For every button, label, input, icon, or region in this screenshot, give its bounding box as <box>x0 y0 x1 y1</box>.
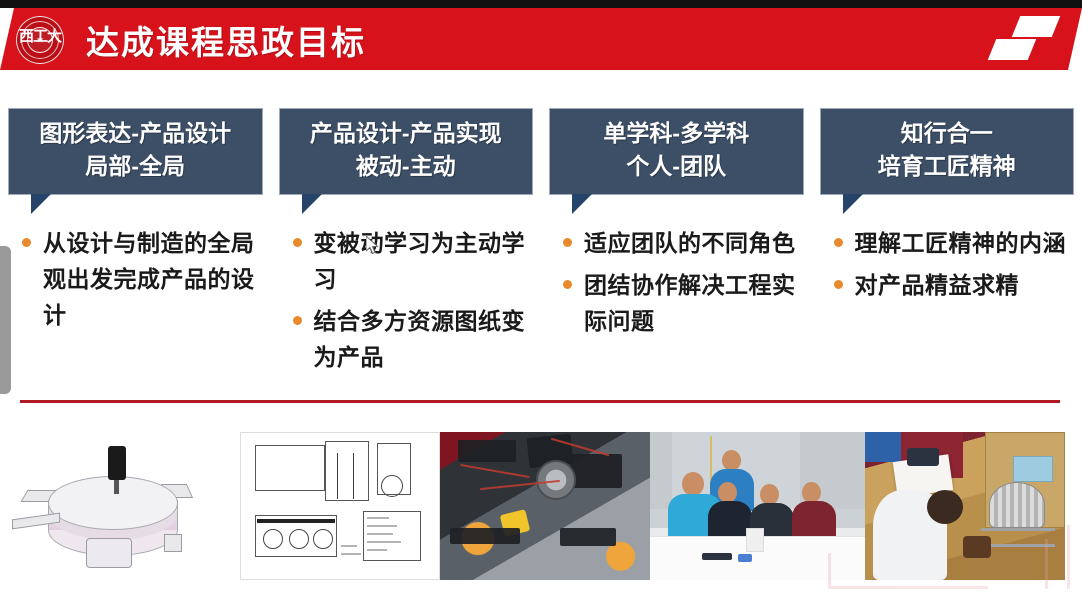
drawing-title-block <box>363 511 421 561</box>
workshop-student-head <box>927 490 963 524</box>
column-1-bullets: 从设计与制造的全局观出发完成产品的设计 <box>8 225 263 333</box>
workshop-machine-frame-b <box>981 544 1055 547</box>
student-head <box>718 482 737 503</box>
list-item: 结合多方资源图纸变为产品 <box>293 303 534 375</box>
bullet-text: 适应团队的不同角色 <box>584 225 796 261</box>
workshop-display <box>1013 456 1053 482</box>
column-header-3: 单学科-多学科 个人-团队 <box>549 108 804 195</box>
bullet-dot-icon <box>563 280 572 289</box>
student-head <box>760 484 779 505</box>
bullet-text: 变被动学习为主动学习 <box>314 225 534 297</box>
objective-column-1: 图形表达-产品设计 局部-全局 从设计与制造的全局观出发完成产品的设计 <box>0 108 271 378</box>
drawing-circle <box>381 475 403 497</box>
column-2-bullets: 变被动学习为主动学习 结合多方资源图纸变为产品 <box>279 225 534 375</box>
cad-side-foot <box>164 534 182 552</box>
column-header-3-tail <box>572 194 592 214</box>
drawing-centerline <box>337 453 338 499</box>
column-header-1-line1: 图形表达-产品设计 <box>13 117 258 150</box>
drawing-title-text <box>367 541 401 543</box>
column-header-4-line1: 知行合一 <box>825 117 1070 150</box>
drawing-title-text <box>367 533 393 535</box>
university-seal-icon: 西工大 ★ <box>16 16 64 64</box>
slide-canvas: 西工大 ★ 达成课程思政目标 图形表达-产品设计 局部-全局 从设计与制造的全局… <box>0 0 1082 595</box>
column-header-1: 图形表达-产品设计 局部-全局 <box>8 108 263 195</box>
student-head <box>802 482 821 503</box>
cad-shaft <box>114 478 119 494</box>
objective-column-2: 产品设计-产品实现 被动-主动 变被动学习为主动学习 结合多方资源图纸变为产品 <box>271 108 542 378</box>
list-item: 适应团队的不同角色 <box>563 225 804 261</box>
column-header-4: 知行合一 培育工匠精神 <box>820 108 1075 195</box>
drawing-bore-3 <box>313 529 333 549</box>
drawing-centerline-2 <box>353 453 354 499</box>
bullet-dot-icon <box>293 316 302 325</box>
objective-columns: 图形表达-产品设计 局部-全局 从设计与制造的全局观出发完成产品的设计 产品设计… <box>0 108 1082 378</box>
column-header-2-tail <box>302 194 322 214</box>
list-item: 对产品精益求精 <box>834 267 1075 303</box>
banner-decoration <box>972 14 1064 64</box>
column-header-2-line1: 产品设计-产品实现 <box>284 117 529 150</box>
page-title: 达成课程思政目标 <box>86 22 366 64</box>
column-header-4-line2: 培育工匠精神 <box>825 150 1070 183</box>
electronics-rail-2 <box>560 528 616 546</box>
student-head <box>682 472 704 496</box>
drawing-note-text <box>341 545 357 547</box>
electronics-module-a <box>458 440 516 462</box>
header-banner: 西工大 ★ 达成课程思政目标 <box>0 8 1082 70</box>
bullet-dot-icon <box>22 238 31 247</box>
table-object-cup <box>746 528 764 552</box>
drawing-note-text <box>341 553 361 555</box>
list-item: 变被动学习为主动学习 <box>293 225 534 297</box>
bullet-dot-icon <box>834 280 843 289</box>
column-header-2: 产品设计-产品实现 被动-主动 <box>279 108 534 195</box>
photo-strip <box>0 432 1082 580</box>
drawing-title-text <box>367 549 387 551</box>
column-header-4-tail <box>843 194 863 214</box>
column-header-1-line2: 局部-全局 <box>13 150 258 183</box>
engineering-drawing-image <box>240 432 440 580</box>
bullet-text: 团结协作解决工程实际问题 <box>584 267 804 339</box>
column-header-3-line2: 个人-团队 <box>554 150 799 183</box>
list-item: 从设计与制造的全局观出发完成产品的设计 <box>22 225 263 333</box>
student-head <box>722 450 741 471</box>
bullet-text: 对产品精益求精 <box>855 267 1020 303</box>
electronics-module-c <box>570 454 622 488</box>
list-item: 团结协作解决工程实际问题 <box>563 267 804 339</box>
workshop-machine-frame-a <box>981 528 1055 531</box>
objective-column-3: 单学科-多学科 个人-团队 适应团队的不同角色 团结协作解决工程实际问题 <box>541 108 812 378</box>
column-header-3-line1: 单学科-多学科 <box>554 117 799 150</box>
electronics-rail <box>450 528 520 544</box>
cad-motor <box>108 446 126 480</box>
drawing-bore-2 <box>289 529 309 549</box>
column-3-bullets: 适应团队的不同角色 团结协作解决工程实际问题 <box>549 225 804 339</box>
objective-column-4: 知行合一 培育工匠精神 理解工匠精神的内涵 对产品精益求精 <box>812 108 1082 378</box>
top-black-strip <box>0 0 1082 8</box>
deco-parallelogram-top <box>1012 16 1060 37</box>
table-object-box <box>738 554 752 562</box>
column-header-1-tail <box>31 194 51 214</box>
cad-base-foot <box>86 538 132 568</box>
bullet-text: 理解工匠精神的内涵 <box>855 225 1067 261</box>
drawing-view-section <box>325 441 369 501</box>
workshop-machine <box>989 482 1045 528</box>
bullet-text: 结合多方资源图纸变为产品 <box>314 303 534 375</box>
workshop-held-device <box>907 448 939 466</box>
drawing-title-text <box>367 525 397 527</box>
deco-parallelogram-bottom <box>988 39 1036 60</box>
cad-render-image <box>0 432 240 580</box>
electronics-assembly-image <box>440 432 650 580</box>
drawing-bore-1 <box>263 529 283 549</box>
cad-top-disc <box>48 476 178 530</box>
bullet-dot-icon <box>563 238 572 247</box>
bullet-dot-icon <box>834 238 843 247</box>
bullet-text: 从设计与制造的全局观出发完成产品的设计 <box>43 225 263 333</box>
watermark-bar <box>828 586 988 589</box>
drawing-view-front <box>255 445 325 491</box>
student-team-image <box>650 432 865 580</box>
bullet-dot-icon <box>293 238 302 247</box>
workshop-parts <box>963 536 991 558</box>
table-object-device <box>702 553 732 560</box>
red-divider <box>20 400 1060 403</box>
student-shirt <box>792 501 836 539</box>
column-header-2-line2: 被动-主动 <box>284 150 529 183</box>
seal-star-icon: ★ <box>36 35 44 46</box>
drawing-title-text <box>367 517 389 519</box>
list-item: 理解工匠精神的内涵 <box>834 225 1075 261</box>
workshop-work-image <box>865 432 1065 580</box>
drawing-plan-bar <box>257 519 335 523</box>
column-4-bullets: 理解工匠精神的内涵 对产品精益求精 <box>820 225 1075 303</box>
